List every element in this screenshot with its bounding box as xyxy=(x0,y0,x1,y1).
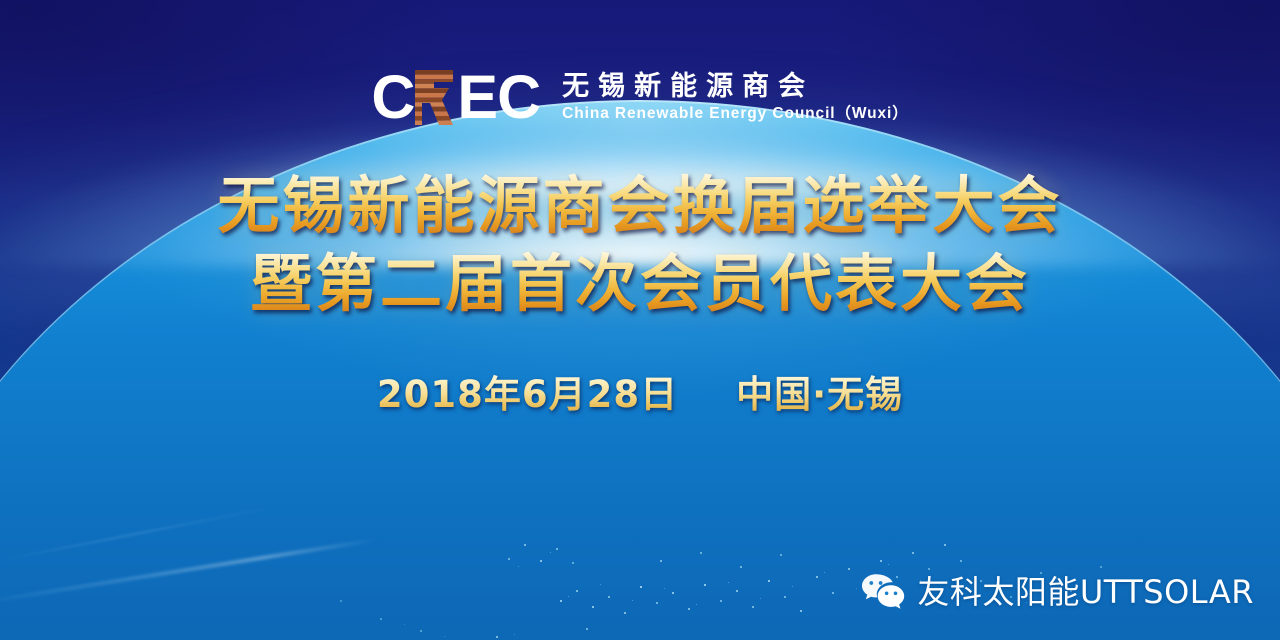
wechat-watermark: 友科太阳能UTTSOLAR xyxy=(860,572,1254,612)
org-name-chinese: 无锡新能源商会 xyxy=(562,72,908,102)
wechat-account-name: 友科太阳能UTTSOLAR xyxy=(917,572,1254,612)
logo-letter-e: E xyxy=(457,68,497,126)
event-location: 中国·无锡 xyxy=(736,372,903,418)
event-meta: 2018年6月28日 中国·无锡 xyxy=(0,372,1280,418)
logo-letter-c-first: C xyxy=(371,68,414,126)
logo-letter-r-stylized-icon xyxy=(412,70,456,125)
crec-wordmark: C xyxy=(371,68,540,126)
wechat-icon xyxy=(860,572,906,612)
logo-text-block: 无锡新能源商会 China Renewable Energy Council（W… xyxy=(562,70,908,124)
title-line-1: 无锡新能源商会换届选举大会 xyxy=(0,168,1280,244)
org-name-english: China Renewable Energy Council（Wuxi） xyxy=(562,104,908,124)
event-banner: C xyxy=(0,0,1280,640)
event-date: 2018年6月28日 xyxy=(377,372,678,418)
city-lights-fine xyxy=(0,0,1,1)
event-title: 无锡新能源商会换届选举大会 暨第二届首次会员代表大会 xyxy=(0,168,1280,322)
logo-letter-c-last: C xyxy=(497,68,540,126)
organization-logo: C xyxy=(0,68,1280,126)
title-line-2: 暨第二届首次会员代表大会 xyxy=(0,246,1280,322)
